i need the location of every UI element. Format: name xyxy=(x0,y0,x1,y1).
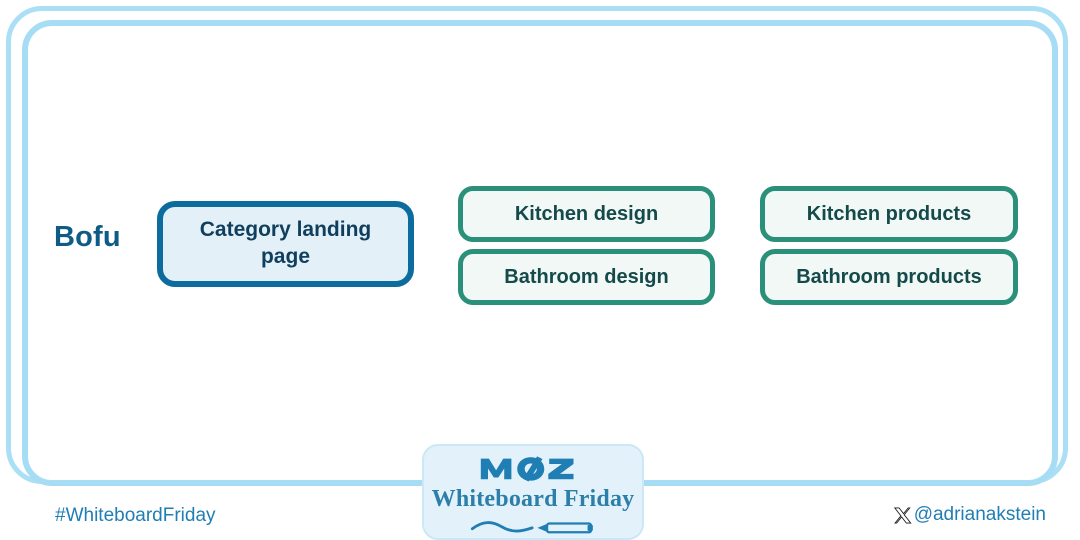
marker-squiggle-icon xyxy=(467,518,599,536)
node-bathroom-design[interactable]: Bathroom design xyxy=(458,249,715,305)
node-label: Kitchen products xyxy=(807,203,971,226)
moz-logo-icon xyxy=(477,455,589,482)
node-label: Bathroom products xyxy=(796,266,982,289)
node-kitchen-products[interactable]: Kitchen products xyxy=(760,186,1018,242)
badge-title: Whiteboard Friday xyxy=(432,487,635,511)
node-label: Bathroom design xyxy=(504,266,668,289)
node-label: Category landing page xyxy=(177,217,394,271)
node-category-landing-page[interactable]: Category landing page xyxy=(157,201,414,287)
node-label: Kitchen design xyxy=(515,203,658,226)
footer-hashtag: #WhiteboardFriday xyxy=(55,505,216,527)
footer-handle: @adrianakstein xyxy=(893,504,1046,526)
node-bathroom-products[interactable]: Bathroom products xyxy=(760,249,1018,305)
whiteboard-friday-badge: Whiteboard Friday xyxy=(422,444,644,540)
footer-handle-text: @adrianakstein xyxy=(914,504,1046,526)
x-twitter-icon xyxy=(893,506,912,525)
stage-label-bofu: Bofu xyxy=(54,221,121,254)
node-kitchen-design[interactable]: Kitchen design xyxy=(458,186,715,242)
whiteboard-canvas: Bofu Category landing page Kitchen desig… xyxy=(0,0,1080,540)
